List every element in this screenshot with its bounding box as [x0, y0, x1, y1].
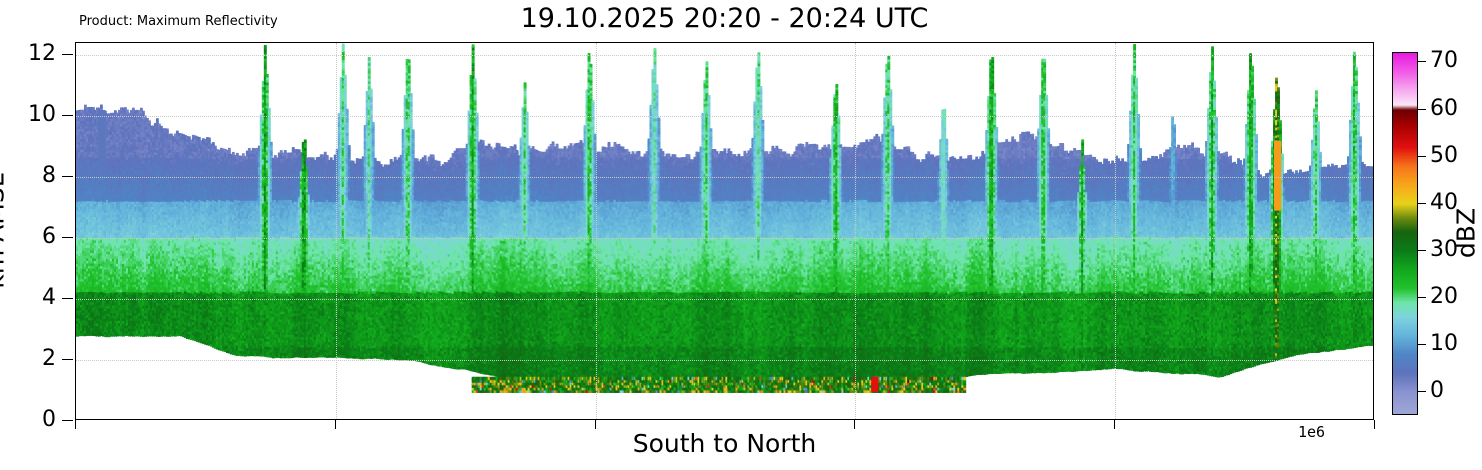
radar-cross-section-figure: Product: Maximum Reflectivity 19.10.2025… — [0, 0, 1482, 470]
colorbar-tick-label: 10 — [1430, 333, 1458, 355]
y-tick-mark — [62, 359, 73, 360]
y-tick-label: 0 — [42, 409, 56, 431]
y-tick-label: 8 — [42, 165, 56, 187]
x-axis-label: South to North — [75, 429, 1374, 458]
x-tick-mark — [1374, 420, 1375, 429]
colorbar-tick-mark — [1418, 344, 1426, 345]
colorbar-label: dBZ — [1454, 208, 1479, 258]
y-tick-label: 4 — [42, 287, 56, 309]
colorbar-tick-mark — [1418, 391, 1426, 392]
y-axis-label: km AMSL — [0, 173, 8, 288]
x-axis-offset-label: 1e6 — [1298, 424, 1325, 441]
x-tick-mark — [1114, 420, 1115, 429]
colorbar-tick-label: 50 — [1430, 145, 1458, 167]
y-tick-label: 12 — [28, 43, 56, 65]
y-tick-label: 2 — [42, 348, 56, 370]
colorbar-tick-mark — [1418, 203, 1426, 204]
colorbar-tick-mark — [1418, 61, 1426, 62]
x-tick-mark — [75, 420, 76, 429]
colorbar-tick-mark — [1418, 109, 1426, 110]
y-tick-mark — [62, 420, 73, 421]
colorbar-tick-mark — [1418, 156, 1426, 157]
x-tick-mark — [595, 420, 596, 429]
y-tick-label: 10 — [28, 104, 56, 126]
colorbar-tick-label: 20 — [1430, 286, 1458, 308]
colorbar-tick-label: 60 — [1430, 98, 1458, 120]
plot-area — [75, 42, 1374, 420]
x-tick-mark — [335, 420, 336, 429]
colorbar-tick-mark — [1418, 297, 1426, 298]
y-tick-mark — [62, 298, 73, 299]
y-tick-mark — [62, 237, 73, 238]
y-tick-mark — [62, 176, 73, 177]
colorbar-tick-mark — [1418, 250, 1426, 251]
heatmap-image — [76, 43, 1373, 419]
x-tick-mark — [854, 420, 855, 429]
colorbar-tick-label: 0 — [1430, 380, 1444, 402]
page-title: 19.10.2025 20:20 - 20:24 UTC — [75, 3, 1374, 35]
colorbar-tick-label: 70 — [1430, 50, 1458, 72]
y-tick-mark — [62, 54, 73, 55]
y-tick-label: 6 — [42, 226, 56, 248]
y-tick-mark — [62, 115, 73, 116]
